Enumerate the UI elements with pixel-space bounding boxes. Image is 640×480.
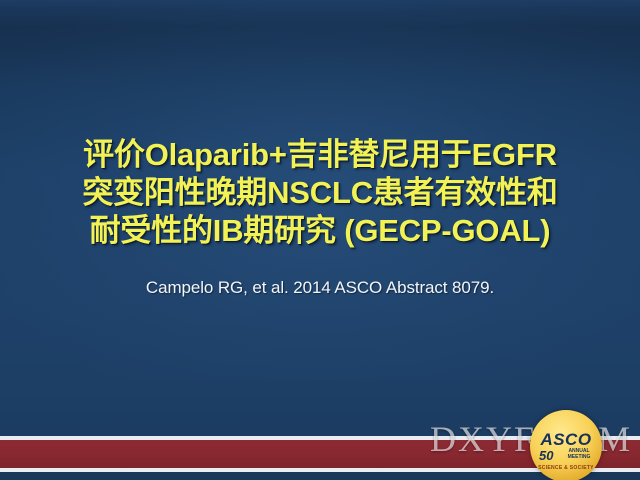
page-title: 评价Olaparib+吉非替尼用于EGFR 突变阳性晚期NSCLC患者有效性和 … bbox=[0, 136, 640, 250]
asco-logo-icon: ASCO 50 ANNUAL MEETING SCIENCE & SOCIETY bbox=[530, 410, 602, 480]
presentation-slide: 评价Olaparib+吉非替尼用于EGFR 突变阳性晚期NSCLC患者有效性和 … bbox=[0, 0, 640, 480]
asco-logo-wordmark: ASCO bbox=[530, 430, 602, 450]
title-line-3: 耐受性的IB期研究 (GECP-GOAL) bbox=[0, 212, 640, 250]
citation-subtitle: Campelo RG, et al. 2014 ASCO Abstract 80… bbox=[0, 277, 640, 299]
title-line-2: 突变阳性晚期NSCLC患者有效性和 bbox=[0, 174, 640, 212]
asco-logo-anniversary: 50 bbox=[539, 448, 553, 463]
asco-logo-meeting-label: ANNUAL MEETING bbox=[557, 448, 601, 460]
title-line-1: 评价Olaparib+吉非替尼用于EGFR bbox=[0, 136, 640, 174]
asco-logo-tagline: SCIENCE & SOCIETY bbox=[530, 465, 602, 471]
